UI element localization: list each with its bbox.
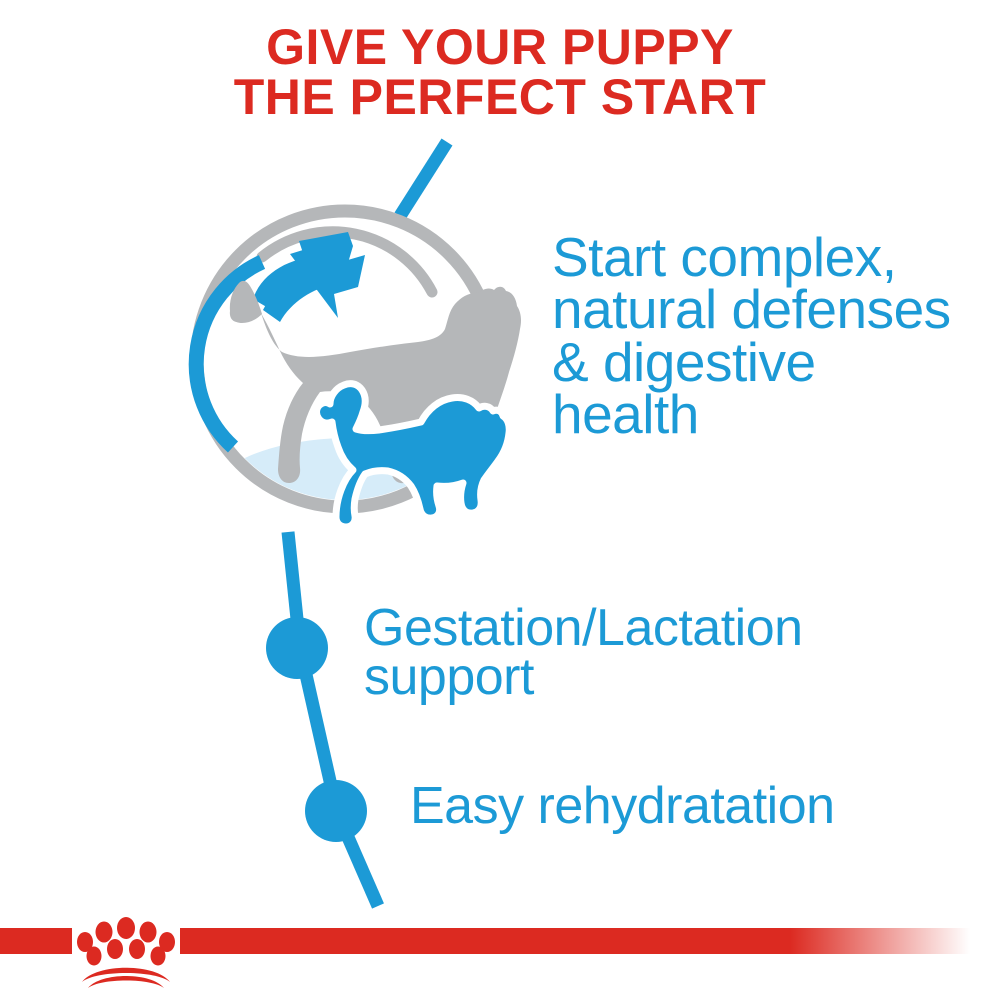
benefit-text-2: Gestation/Lactation support <box>364 604 964 703</box>
headline-line-1: GIVE YOUR PUPPY <box>0 22 1000 72</box>
royal-canin-crown-logo <box>72 916 180 988</box>
puppy-growth-icon <box>196 211 521 562</box>
headline-line-2: THE PERFECT START <box>0 72 1000 122</box>
arrow-head <box>290 237 365 318</box>
benefit-text-1: Start complex, natural defenses & digest… <box>552 231 952 440</box>
growth-arc-blue <box>196 262 262 447</box>
illustration-artwork <box>0 0 1000 1000</box>
icon-ring <box>197 211 493 507</box>
brand-bar-right-segment <box>180 928 1000 954</box>
growth-arc-gray <box>262 232 432 292</box>
brand-bar-left-segment <box>0 928 72 954</box>
benefit-text-3: Easy rehydratation <box>410 782 970 831</box>
puppy-silhouette <box>317 384 510 527</box>
arrow-tail <box>253 257 322 309</box>
connector-node-2 <box>305 780 367 842</box>
headline: GIVE YOUR PUPPY THE PERFECT START <box>0 22 1000 122</box>
arrow-curve <box>263 262 336 322</box>
icon-ground-shadow <box>208 438 488 562</box>
adult-dog-silhouette <box>230 281 521 483</box>
connector-node-1 <box>266 617 328 679</box>
arrow-head-fill <box>299 232 353 295</box>
icon-inner-fill <box>204 218 486 500</box>
poster-canvas: GIVE YOUR PUPPY THE PERFECT START Start … <box>0 0 1000 1000</box>
